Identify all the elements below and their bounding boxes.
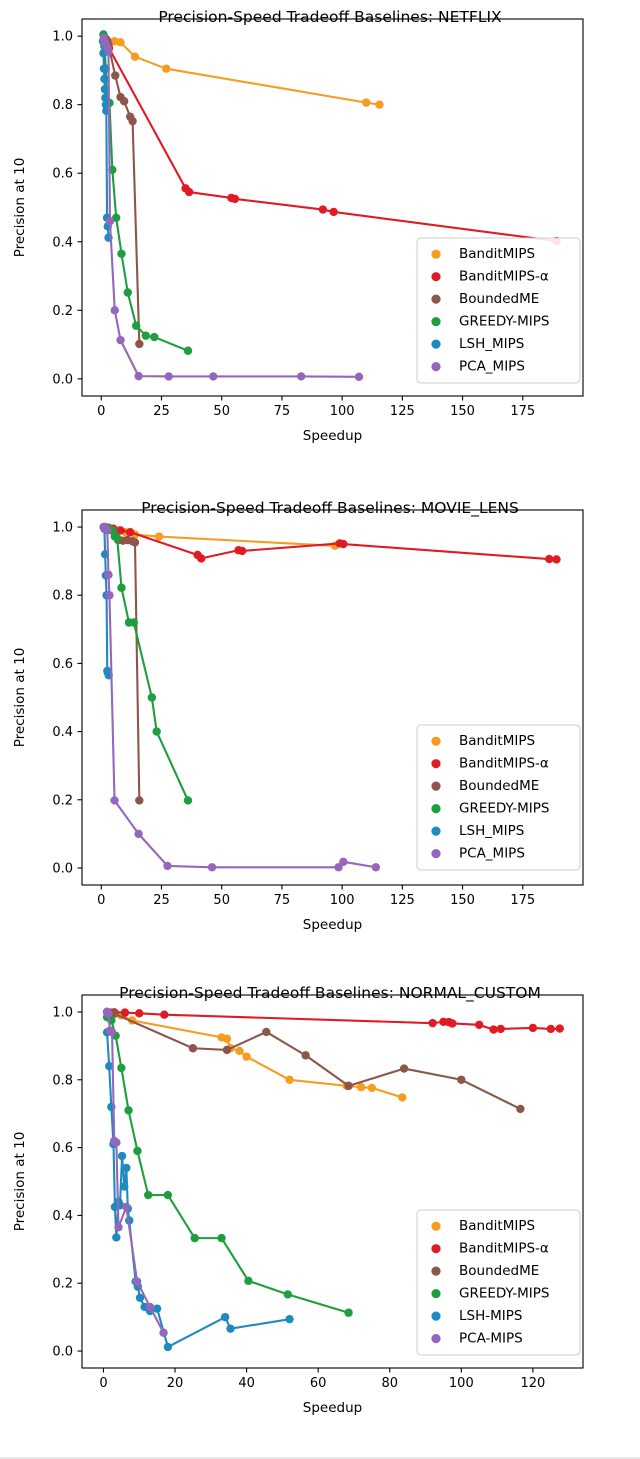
x-tick-label: 0: [97, 893, 105, 908]
data-point: [134, 830, 142, 838]
data-point: [121, 1008, 129, 1016]
series-banditmips: [100, 34, 384, 109]
x-tick-label: 100: [330, 893, 355, 908]
x-tick-label: 80: [381, 1376, 398, 1391]
legend-marker: [431, 827, 440, 836]
chart-panel-normal-custom: Precision-Speed Tradeoff Baselines: NORM…: [0, 950, 640, 1449]
data-point: [133, 1147, 141, 1155]
y-axis-label: Precision at 10: [12, 648, 28, 748]
data-point: [357, 1083, 365, 1091]
y-tick-label: 1.0: [52, 1005, 73, 1020]
x-tick-label: 25: [153, 404, 170, 419]
data-point: [124, 1106, 132, 1114]
data-point: [339, 540, 347, 548]
data-point: [104, 1009, 112, 1017]
data-point: [148, 693, 156, 701]
x-axis-label: Speedup: [303, 917, 362, 933]
data-point: [165, 372, 173, 380]
data-point: [110, 796, 118, 804]
data-point: [489, 1025, 497, 1033]
x-tick-label: 60: [310, 1376, 327, 1391]
legend-label[interactable]: BanditMIPS: [459, 733, 535, 749]
data-point: [400, 1064, 408, 1072]
data-point: [545, 555, 553, 563]
data-point: [103, 526, 111, 534]
legend-label[interactable]: PCA_MIPS: [459, 359, 525, 375]
data-point: [106, 217, 114, 225]
legend-marker: [431, 804, 440, 813]
series-line: [104, 38, 379, 105]
data-point: [163, 862, 171, 870]
data-point: [152, 727, 160, 735]
data-point: [330, 208, 338, 216]
data-point: [231, 195, 239, 203]
figure-page: Precision-Speed Tradeoff Baselines: NETF…: [0, 0, 640, 1459]
x-tick-label: 120: [520, 1376, 545, 1391]
data-point: [191, 1234, 199, 1242]
legend-marker: [431, 1222, 440, 1231]
x-axis-label: Speedup: [303, 1400, 362, 1416]
y-tick-label: 0.6: [52, 657, 73, 672]
series-lsh-mips: [103, 1028, 294, 1351]
data-point: [104, 47, 112, 55]
data-point: [398, 1093, 406, 1101]
data-point: [135, 340, 143, 348]
chart-legend[interactable]: BanditMIPSBanditMIPS-αBoundedMEGREEDY-MI…: [417, 1210, 580, 1355]
data-point: [372, 863, 380, 871]
y-tick-label: 0.4: [52, 235, 73, 250]
legend-marker: [431, 1289, 440, 1298]
data-point: [223, 1046, 231, 1054]
y-axis-label: Precision at 10: [12, 1132, 28, 1232]
data-point: [159, 1329, 167, 1337]
data-point: [153, 1304, 161, 1312]
data-point: [262, 1028, 270, 1036]
legend-marker: [431, 1244, 440, 1253]
chart-title: Precision-Speed Tradeoff Baselines: NETF…: [158, 8, 502, 26]
data-point: [226, 1324, 234, 1332]
y-tick-label: 0.6: [52, 167, 73, 182]
x-tick-label: 100: [449, 1376, 474, 1391]
legend-label[interactable]: PCA_MIPS: [459, 846, 525, 862]
series-line: [105, 527, 557, 559]
x-tick-label: 50: [213, 893, 230, 908]
x-tick-label: 75: [274, 893, 291, 908]
data-point: [118, 1152, 126, 1160]
chart-legend[interactable]: BanditMIPSBanditMIPS-αBoundedMEGREEDY-MI…: [417, 725, 580, 870]
x-tick-label: 175: [510, 893, 535, 908]
data-point: [223, 1035, 231, 1043]
x-tick-label: 100: [330, 404, 355, 419]
data-point: [117, 250, 125, 258]
data-point: [319, 205, 327, 213]
legend-label[interactable]: BanditMIPS-α: [459, 756, 549, 772]
data-point: [144, 1191, 152, 1199]
data-point: [108, 1028, 116, 1036]
x-tick-label: 0: [97, 404, 105, 419]
chart-svg-normal_custom: Precision-Speed Tradeoff Baselines: NORM…: [0, 950, 640, 1449]
data-point: [362, 98, 370, 106]
legend-label[interactable]: GREEDY-MIPS: [459, 314, 549, 330]
data-point: [155, 532, 163, 540]
data-point: [128, 117, 136, 125]
y-tick-label: 0.0: [52, 1345, 73, 1360]
legend-marker: [431, 272, 440, 281]
series-banditmips-: [103, 1008, 564, 1034]
data-point: [448, 1019, 456, 1027]
data-point: [301, 1051, 309, 1059]
y-tick-label: 1.0: [52, 521, 73, 536]
x-tick-label: 125: [390, 404, 415, 419]
legend-marker: [431, 759, 440, 768]
legend-label[interactable]: BoundedME: [459, 1263, 539, 1279]
data-point: [242, 1053, 250, 1061]
data-point: [111, 71, 119, 79]
data-point: [116, 336, 124, 344]
chart-title: Precision-Speed Tradeoff Baselines: MOVI…: [141, 499, 519, 518]
legend-label[interactable]: LSH_MIPS: [459, 823, 524, 839]
data-point: [339, 858, 347, 866]
data-point: [100, 75, 108, 83]
legend-label[interactable]: BanditMIPS: [459, 246, 535, 262]
x-tick-label: 150: [450, 404, 475, 419]
legend-marker: [431, 250, 440, 259]
data-point: [100, 65, 108, 73]
data-point: [208, 863, 216, 871]
x-tick-label: 0: [99, 1376, 107, 1391]
series-line: [104, 527, 188, 800]
data-point: [120, 97, 128, 105]
data-point: [217, 1234, 225, 1242]
legend-label[interactable]: BoundedME: [459, 291, 539, 307]
x-tick-label: 175: [510, 404, 535, 419]
legend-label[interactable]: BoundedME: [459, 778, 539, 794]
chart-legend[interactable]: BanditMIPSBanditMIPS-αBoundedMEGREEDY-MI…: [417, 238, 580, 383]
data-point: [162, 65, 170, 73]
legend-label[interactable]: GREEDY-MIPS: [459, 1286, 549, 1302]
data-point: [375, 100, 383, 108]
data-point: [116, 38, 124, 46]
data-point: [135, 1009, 143, 1017]
x-tick-label: 40: [238, 1376, 255, 1391]
series-greedy-mips: [103, 1013, 353, 1317]
data-point: [133, 1277, 141, 1285]
x-axis-label: Speedup: [303, 428, 362, 444]
chart-panel-netflix: Precision-Speed Tradeoff Baselines: NETF…: [0, 0, 640, 470]
legend-label[interactable]: BanditMIPS-α: [459, 1241, 549, 1257]
legend-label[interactable]: PCA-MIPS: [459, 1331, 523, 1347]
data-point: [131, 538, 139, 546]
data-point: [475, 1021, 483, 1029]
legend-marker: [431, 849, 440, 858]
legend-marker: [431, 737, 440, 746]
data-point: [113, 534, 121, 542]
data-point: [244, 1277, 252, 1285]
series-banditmips-: [101, 34, 561, 246]
legend-label[interactable]: LSH_MIPS: [459, 336, 524, 352]
y-tick-label: 0.8: [52, 98, 73, 113]
data-point: [285, 1076, 293, 1084]
data-point: [130, 618, 138, 626]
data-point: [117, 584, 125, 592]
data-point: [344, 1082, 352, 1090]
x-tick-label: 50: [213, 404, 230, 419]
data-point: [189, 1044, 197, 1052]
data-point: [112, 1233, 120, 1241]
data-point: [111, 306, 119, 314]
legend-marker: [431, 317, 440, 326]
data-point: [429, 1019, 437, 1027]
data-point: [120, 1182, 128, 1190]
chart-svg-netflix: Precision-Speed Tradeoff Baselines: NETF…: [0, 0, 640, 470]
y-tick-label: 1.0: [52, 30, 73, 45]
chart-title: Precision-Speed Tradeoff Baselines: NORM…: [119, 984, 541, 1003]
data-point: [556, 1024, 564, 1032]
y-tick-label: 0.2: [52, 304, 73, 319]
data-point: [529, 1024, 537, 1032]
legend-marker: [431, 340, 440, 349]
data-point: [297, 372, 305, 380]
data-point: [114, 1223, 122, 1231]
data-point: [547, 1025, 555, 1033]
data-point: [344, 1309, 352, 1317]
data-point: [285, 1315, 293, 1323]
series-line: [104, 527, 139, 800]
data-point: [122, 1203, 130, 1211]
data-point: [496, 1025, 504, 1033]
data-point: [209, 372, 217, 380]
data-point: [238, 547, 246, 555]
data-point: [132, 322, 140, 330]
x-tick-label: 75: [274, 404, 291, 419]
data-point: [117, 1064, 125, 1072]
y-axis-label: Precision at 10: [12, 158, 28, 258]
data-point: [135, 796, 143, 804]
legend-marker: [431, 362, 440, 371]
chart-svg-movie_lens: Precision-Speed Tradeoff Baselines: MOVI…: [0, 470, 640, 950]
data-point: [112, 1138, 120, 1146]
y-tick-label: 0.4: [52, 725, 73, 740]
data-point: [184, 347, 192, 355]
data-point: [105, 591, 113, 599]
y-tick-label: 0.6: [52, 1141, 73, 1156]
data-point: [124, 288, 132, 296]
data-point: [516, 1105, 524, 1113]
data-point: [131, 53, 139, 61]
data-point: [142, 331, 150, 339]
data-point: [284, 1290, 292, 1298]
x-tick-label: 25: [153, 893, 170, 908]
y-tick-label: 0.4: [52, 1209, 73, 1224]
data-point: [355, 373, 363, 381]
y-tick-label: 0.8: [52, 589, 73, 604]
data-point: [235, 1047, 243, 1055]
data-point: [552, 555, 560, 563]
chart-panel-movie-lens: Precision-Speed Tradeoff Baselines: MOVI…: [0, 470, 640, 950]
data-point: [122, 1164, 130, 1172]
legend-marker: [431, 782, 440, 791]
y-tick-label: 0.8: [52, 1073, 73, 1088]
x-tick-label: 125: [390, 893, 415, 908]
series-pca-mips: [99, 523, 380, 872]
legend-label[interactable]: GREEDY-MIPS: [459, 801, 549, 817]
data-point: [126, 528, 134, 536]
series-banditmips-: [101, 523, 561, 564]
y-tick-label: 0.2: [52, 793, 73, 808]
legend-marker: [431, 1312, 440, 1321]
data-point: [160, 1010, 168, 1018]
legend-label[interactable]: BanditMIPS: [459, 1218, 535, 1234]
data-point: [164, 1343, 172, 1351]
data-point: [104, 571, 112, 579]
y-tick-label: 0.0: [52, 372, 73, 387]
data-point: [368, 1084, 376, 1092]
series-line: [104, 527, 376, 867]
legend-marker: [431, 1334, 440, 1343]
y-tick-label: 0.2: [52, 1277, 73, 1292]
data-point: [146, 1303, 154, 1311]
legend-marker: [431, 295, 440, 304]
legend-label[interactable]: BanditMIPS-α: [459, 269, 549, 285]
x-tick-label: 20: [167, 1376, 184, 1391]
legend-label[interactable]: LSH-MIPS: [459, 1308, 522, 1324]
y-tick-label: 0.0: [52, 861, 73, 876]
data-point: [185, 188, 193, 196]
legend-marker: [431, 1267, 440, 1276]
data-point: [164, 1191, 172, 1199]
data-point: [184, 796, 192, 804]
data-point: [150, 333, 158, 341]
data-point: [221, 1313, 229, 1321]
series-line: [107, 1032, 290, 1347]
data-point: [457, 1076, 465, 1084]
data-point: [197, 554, 205, 562]
data-point: [134, 372, 142, 380]
x-tick-label: 150: [450, 893, 475, 908]
